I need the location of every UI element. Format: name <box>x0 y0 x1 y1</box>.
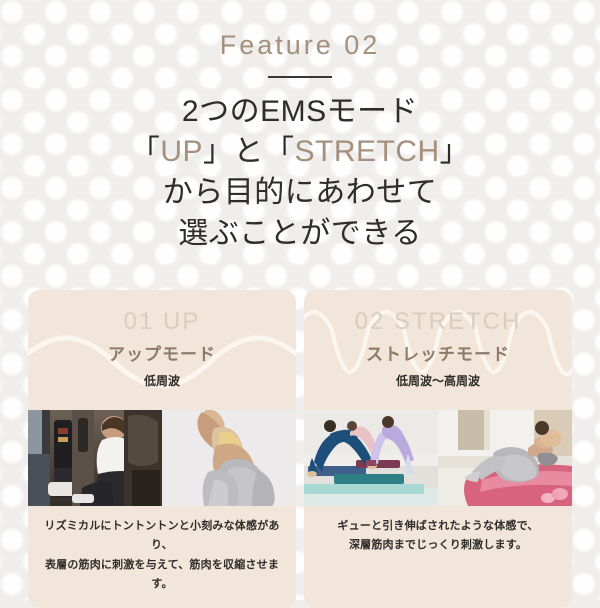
card-photos-stretch <box>304 410 572 506</box>
headline-line-3: から目的にあわせて <box>0 173 600 214</box>
caption-stretch-line-1: ギューと引き伸ばされたような体感で、 <box>312 517 564 536</box>
headline-accent-stretch: STRETCH <box>295 135 440 168</box>
headline-line-2: 「UP」と「STRETCH」 <box>0 132 600 173</box>
headline-line-1: 2つのEMSモード <box>0 92 600 133</box>
headline-accent-up: UP <box>160 135 203 168</box>
mode-cards: 01 UP アップモード 低周波 <box>28 290 572 608</box>
pink-mat-photo-art <box>438 410 572 506</box>
gym-machine-training-photo <box>28 410 162 506</box>
card-frequency-stretch: 低周波〜高周波 <box>304 375 572 387</box>
hip-leggings-body-photo <box>162 410 296 506</box>
caption-up-line-1: リズミカルにトントントンと小刻みな体感があり、 <box>36 517 288 556</box>
card-header-up: 01 UP アップモード 低周波 <box>28 290 296 410</box>
card-caption-up: リズミカルにトントントンと小刻みな体感があり、 表層の筋肉に刺激を与えて、筋肉を… <box>28 506 296 608</box>
headline-mid: 」と「 <box>203 135 295 168</box>
yoga-class-photo-art <box>304 410 438 506</box>
headline-bracket-close: 」 <box>440 135 471 168</box>
yoga-class-stretch-photo <box>304 410 438 506</box>
card-number-up: 01 UP <box>28 310 296 334</box>
headline-line-4: 選ぶことができる <box>0 214 600 255</box>
card-caption-stretch: ギューと引き伸ばされたような体感で、 深層筋肉までじっくり刺激します。 <box>304 506 572 570</box>
gym-photo-art <box>28 410 162 506</box>
body-photo-art <box>162 410 296 506</box>
caption-up-line-2: 表層の筋肉に刺激を与えて、筋肉を収縮させます。 <box>36 556 288 595</box>
page-title: 2つのEMSモード 「UP」と「STRETCH」 から目的にあわせて 選ぶことが… <box>0 92 600 255</box>
mode-card-up[interactable]: 01 UP アップモード 低周波 <box>28 290 296 608</box>
card-title-stretch: ストレッチモード <box>304 346 572 363</box>
page-background: Feature 02 2つのEMSモード 「UP」と「STRETCH」 から目的… <box>0 0 600 600</box>
header-divider <box>268 76 332 78</box>
page-header: Feature 02 2つのEMSモード 「UP」と「STRETCH」 から目的… <box>0 0 600 255</box>
card-frequency-up: 低周波 <box>28 375 296 387</box>
headline-bracket-open: 「 <box>130 135 161 168</box>
pink-mat-stretch-photo <box>438 410 572 506</box>
card-header-stretch: 02 STRETCH ストレッチモード 低周波〜高周波 <box>304 290 572 410</box>
card-title-up: アップモード <box>28 346 296 363</box>
caption-stretch-line-2: 深層筋肉までじっくり刺激します。 <box>312 536 564 555</box>
mode-card-stretch[interactable]: 02 STRETCH ストレッチモード 低周波〜高周波 <box>304 290 572 608</box>
card-photos-up <box>28 410 296 506</box>
feature-label: Feature 02 <box>0 32 600 59</box>
card-number-stretch: 02 STRETCH <box>304 310 572 334</box>
